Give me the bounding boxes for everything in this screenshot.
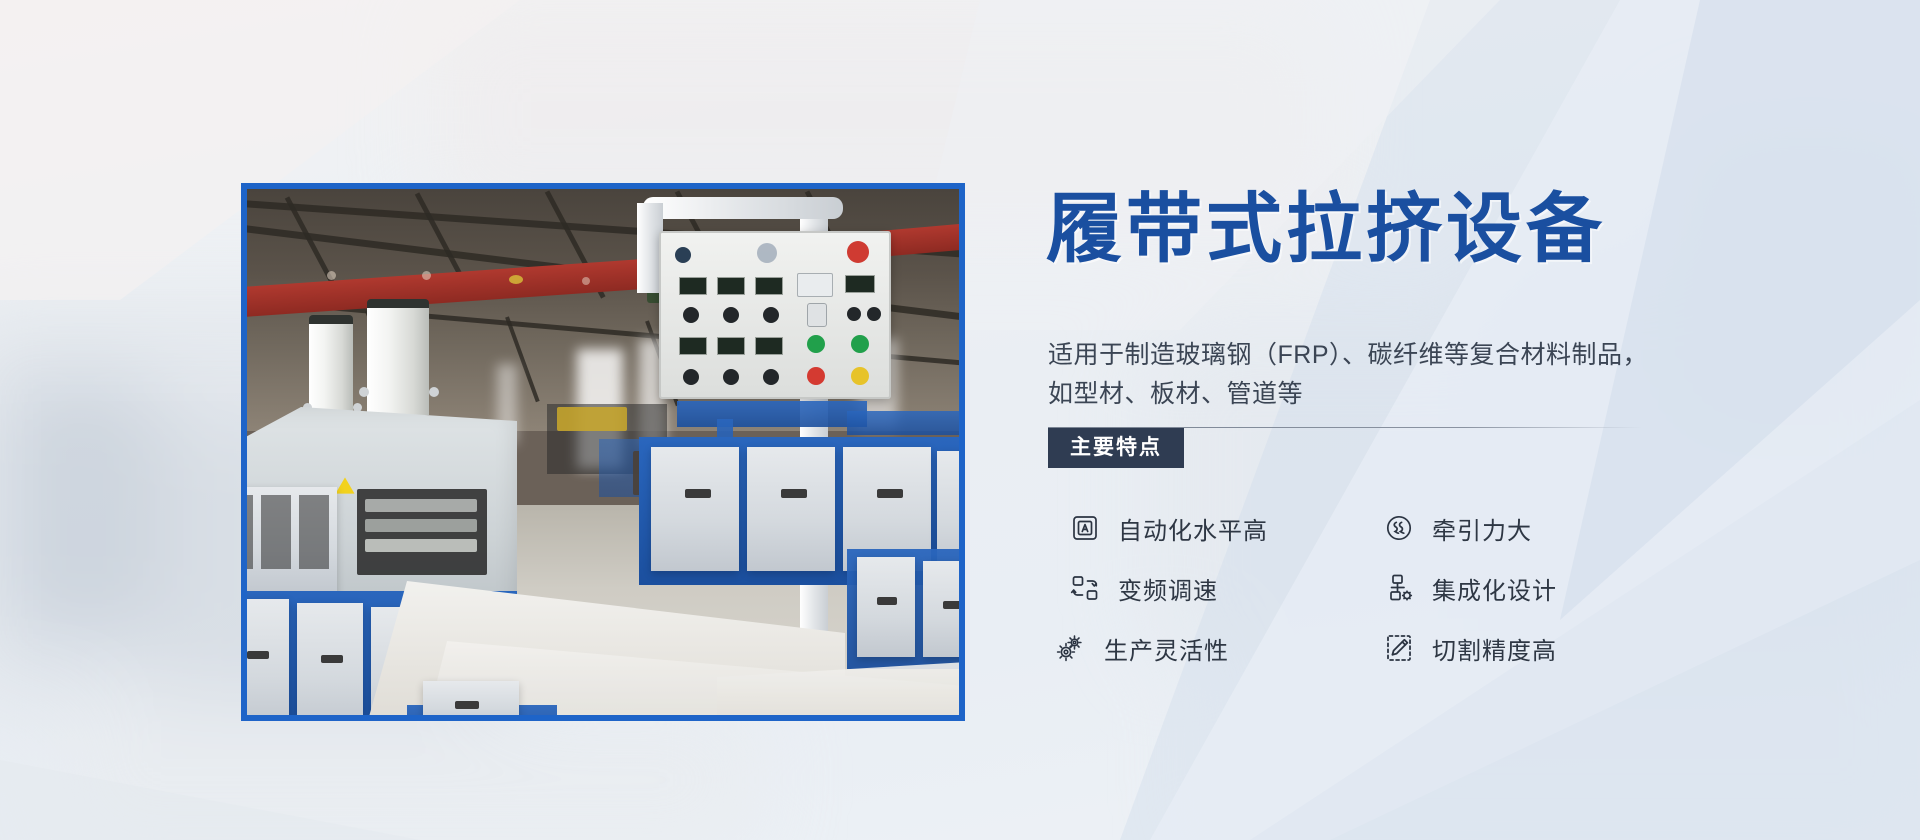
- feature-item-flexibility[interactable]: 生产灵活性: [1046, 631, 1366, 666]
- feature-label: 牵引力大: [1432, 511, 1532, 546]
- feature-label: 自动化水平高: [1118, 511, 1268, 546]
- status-badge: 主要特点: [1048, 428, 1184, 468]
- feature-label: 切割精度高: [1432, 631, 1557, 666]
- cutting-precision-pen-icon: [1382, 631, 1416, 665]
- feature-item-cutting-precision[interactable]: 切割精度高: [1366, 631, 1686, 666]
- feature-label: 集成化设计: [1432, 571, 1557, 606]
- feature-list: 自动化水平高 牵引力大: [1046, 498, 1686, 678]
- traction-waves-circle-icon: [1382, 511, 1416, 545]
- page-title: 履带式拉挤设备: [1046, 192, 1606, 268]
- feature-item-frequency[interactable]: 变频调速: [1046, 571, 1366, 606]
- feature-label: 生产灵活性: [1104, 631, 1229, 666]
- gears-flexibility-icon: [1054, 631, 1088, 665]
- product-photo-frame[interactable]: [241, 183, 965, 721]
- product-description: 适用于制造玻璃钢（FRP）、碳纤维等复合材料制品，如型材、板材、管道等: [1048, 336, 1648, 414]
- frequency-transform-icon: [1068, 571, 1102, 605]
- feature-item-traction[interactable]: 牵引力大: [1366, 511, 1686, 546]
- feature-item-automation[interactable]: 自动化水平高: [1046, 511, 1366, 546]
- feature-item-integrated-design[interactable]: 集成化设计: [1366, 571, 1686, 606]
- feature-label: 变频调速: [1118, 571, 1218, 606]
- integrated-design-node-icon: [1382, 571, 1416, 605]
- product-hero-banner: 履带式拉挤设备 适用于制造玻璃钢（FRP）、碳纤维等复合材料制品，如型材、板材、…: [0, 0, 1920, 840]
- automation-square-a-icon: [1068, 511, 1102, 545]
- banner-content: 履带式拉挤设备 适用于制造玻璃钢（FRP）、碳纤维等复合材料制品，如型材、板材、…: [1046, 0, 1706, 840]
- product-photo: [247, 189, 959, 715]
